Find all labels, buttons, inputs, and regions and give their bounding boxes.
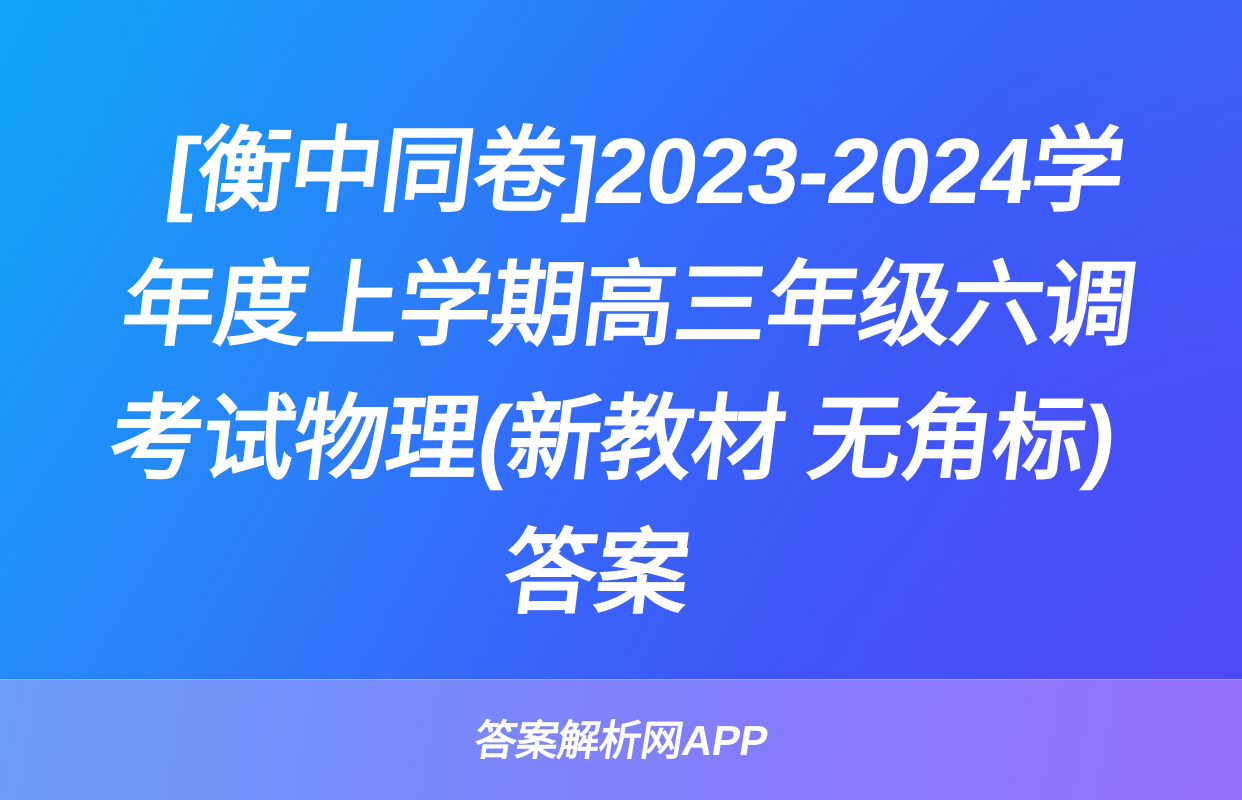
page-title: [衡中同卷]2023-2024学年度上学期高三年级六调考试物理(新教材 无角标)… <box>73 104 1169 640</box>
footer-brand-band: 答案解析网APP <box>0 679 1242 800</box>
app-brand-label: 答案解析网APP <box>471 718 771 764</box>
promo-poster: [衡中同卷]2023-2024学年度上学期高三年级六调考试物理(新教材 无角标)… <box>0 0 1242 800</box>
headline-container: [衡中同卷]2023-2024学年度上学期高三年级六调考试物理(新教材 无角标)… <box>0 0 1242 679</box>
